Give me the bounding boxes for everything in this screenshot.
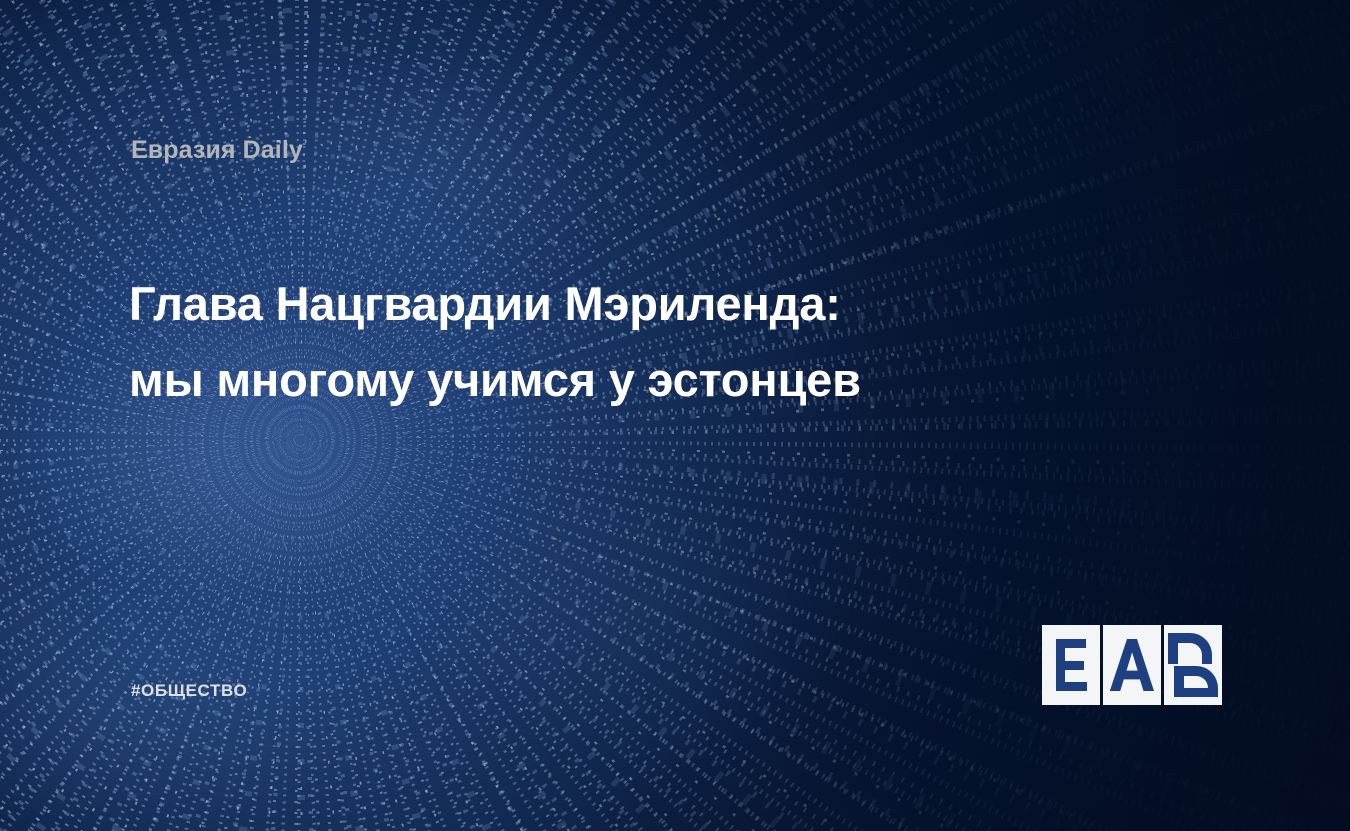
headline: Глава Нацгвардии Мэриленда: мы многому у… [129, 266, 1029, 418]
headline-line-2: мы многому учимся у эстонцев [129, 342, 1029, 418]
category-tag[interactable]: #ОБЩЕСТВО [131, 681, 247, 701]
headline-line-1: Глава Нацгвардии Мэриленда: [129, 266, 1029, 342]
logo-tile-d [1164, 625, 1222, 705]
card-content: Евразия Daily Глава Нацгвардии Мэриленда… [0, 0, 1350, 831]
eadaily-logo[interactable] [1042, 625, 1222, 705]
logo-tile-a [1103, 625, 1161, 705]
article-share-card: Евразия Daily Глава Нацгвардии Мэриленда… [0, 0, 1350, 831]
logo-tile-e [1042, 625, 1100, 705]
site-name: Евразия Daily [131, 136, 303, 165]
